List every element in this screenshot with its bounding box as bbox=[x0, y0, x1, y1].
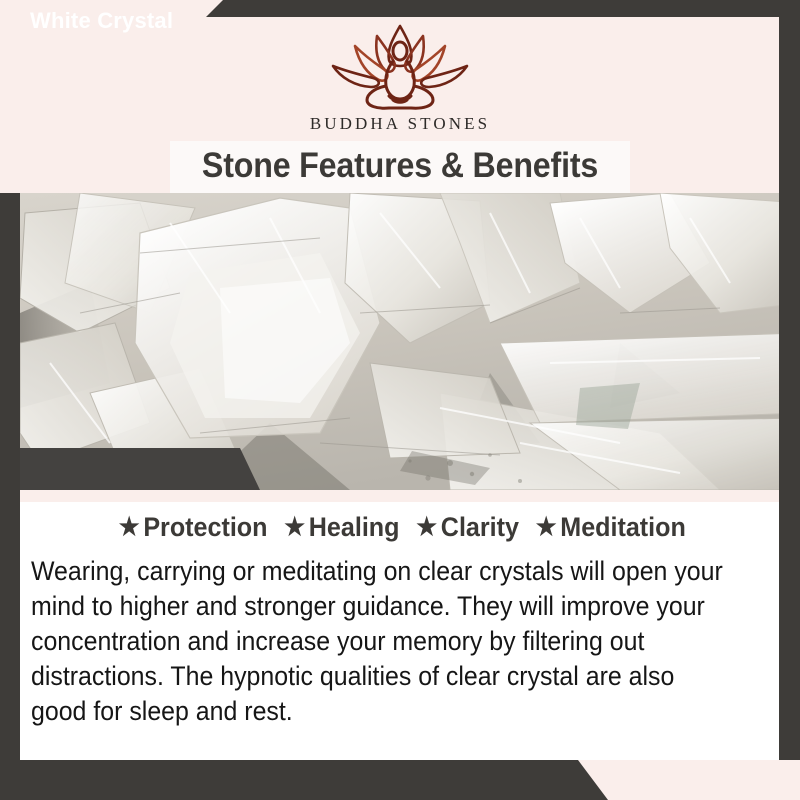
lotus-meditation-icon bbox=[315, 20, 485, 112]
crystal-photo-illustration bbox=[20, 193, 800, 490]
page-title: Stone Features & Benefits bbox=[188, 141, 611, 193]
crystal-photo bbox=[20, 193, 800, 490]
benefit-protection: Protection bbox=[143, 512, 267, 542]
benefit-healing: Healing bbox=[309, 512, 400, 542]
content-panel: ★Protection★Healing★Clarity★Meditation W… bbox=[20, 490, 779, 760]
brand-logo: BUDDHA STONES bbox=[0, 20, 800, 134]
star-icon: ★ bbox=[536, 513, 557, 541]
brand-name: BUDDHA STONES bbox=[0, 114, 800, 134]
benefit-clarity: Clarity bbox=[441, 512, 519, 542]
star-icon: ★ bbox=[119, 513, 140, 541]
right-accent-edge bbox=[779, 0, 800, 800]
photo-caption-label: White Crystal bbox=[30, 8, 173, 34]
content-top-strip bbox=[20, 490, 779, 502]
photo-caption-banner bbox=[20, 448, 260, 490]
star-icon: ★ bbox=[284, 513, 305, 541]
stone-features-poster: BUDDHA STONES Stone Features & Benefits bbox=[0, 0, 800, 800]
left-accent-edge bbox=[0, 193, 20, 760]
page-title-box: Stone Features & Benefits bbox=[170, 141, 630, 193]
star-icon: ★ bbox=[416, 513, 437, 541]
description-paragraph: Wearing, carrying or meditating on clear… bbox=[31, 554, 725, 729]
benefits-row: ★Protection★Healing★Clarity★Meditation bbox=[47, 512, 753, 543]
benefit-meditation: Meditation bbox=[560, 512, 686, 542]
